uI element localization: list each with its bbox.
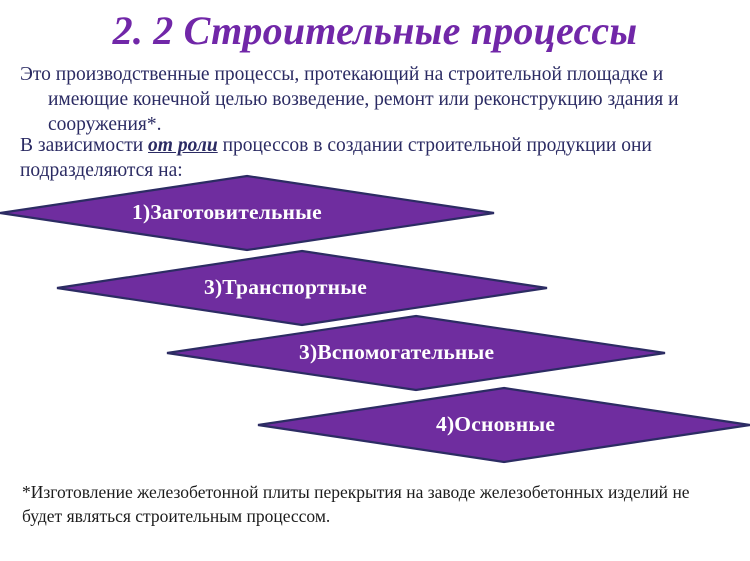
- classification-emphasis: от роли: [148, 135, 218, 156]
- process-shape-3[interactable]: 3)Вспомогательные: [167, 316, 665, 390]
- intro-paragraph: Это производственные процессы, протекающ…: [20, 62, 736, 137]
- slide-canvas: 2. 2 Строительные процессы Это производс…: [0, 0, 750, 561]
- intro-line-2: имеющие конечной целью возведение, ремон…: [48, 89, 663, 110]
- intro-line-1: Это производственные процессы, протекающ…: [20, 64, 663, 85]
- process-shape-2[interactable]: 3)Транспортные: [57, 251, 547, 325]
- process-shape-2-label: 3)Транспортные: [204, 275, 367, 300]
- process-shape-1[interactable]: 1)Заготовительные: [0, 176, 494, 250]
- process-shape-4[interactable]: 4)Основные: [258, 388, 750, 462]
- classification-text-before: В зависимости: [20, 135, 148, 156]
- process-shape-3-label: 3)Вспомогательные: [299, 340, 494, 365]
- intro-paragraph-text: Это производственные процессы, протекающ…: [20, 62, 736, 137]
- process-shape-4-label: 4)Основные: [436, 412, 555, 437]
- footnote-line-1: *Изготовление железобетонной плиты перек…: [22, 482, 668, 502]
- page-title: 2. 2 Строительные процессы: [0, 8, 750, 54]
- footnote: *Изготовление железобетонной плиты перек…: [22, 480, 734, 528]
- process-shape-1-label: 1)Заготовительные: [132, 200, 322, 225]
